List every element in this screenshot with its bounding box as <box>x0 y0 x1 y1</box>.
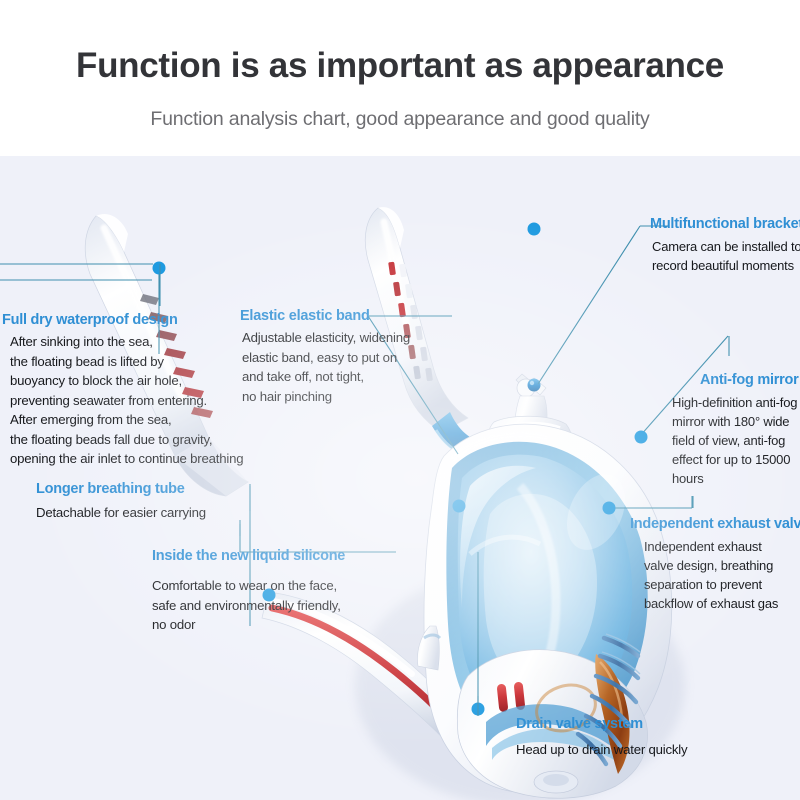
callout-elastic-elastic-band: Elastic elastic band Adjustable elastici… <box>240 308 410 406</box>
callout-longer-breathing-tube: Longer breathing tube Detachable for eas… <box>36 481 206 523</box>
infographic-panel: Full dry waterproof design After sinking… <box>0 156 800 800</box>
callout-title: Full dry waterproof design <box>2 312 243 328</box>
callout-anti-fog-mirror: Anti-fog mirror High-definition anti-fog… <box>672 372 799 488</box>
callout-title: Inside the new liquid silicone <box>152 548 345 564</box>
callout-title: Anti-fog mirror <box>672 372 799 388</box>
callout-body: After sinking into the sea, the floating… <box>2 332 243 469</box>
callout-body: Camera can be installed to record beauti… <box>650 237 800 275</box>
callout-title: Elastic elastic band <box>240 308 410 324</box>
callout-title: Drain valve system <box>516 716 687 732</box>
callout-title: Multifunctional bracket <box>650 216 800 232</box>
callout-independent-exhaust-valve: Independent exhaust valve Independent ex… <box>630 516 800 613</box>
callout-body: Independent exhaust valve design, breath… <box>630 537 800 613</box>
callout-body: High-definition anti-fog mirror with 180… <box>672 393 799 488</box>
callout-body: Comfortable to wear on the face, safe an… <box>152 576 345 635</box>
callout-inside-the-new-liquid-silicone: Inside the new liquid silicone Comfortab… <box>152 548 345 635</box>
callout-body: Head up to drain water quickly <box>516 740 687 760</box>
header-banner: Function is as important as appearance F… <box>0 0 800 156</box>
page-title: Function is as important as appearance <box>0 46 800 86</box>
callout-title: Longer breathing tube <box>36 481 206 497</box>
callout-multifunctional-bracket: Multifunctional bracket Camera can be in… <box>650 216 800 275</box>
callout-body: Detachable for easier carrying <box>36 503 206 523</box>
callout-body: Adjustable elasticity, widening elastic … <box>240 328 410 406</box>
callout-full-dry-waterproof-design: Full dry waterproof design After sinking… <box>2 312 243 469</box>
callout-drain-valve-system: Drain valve system Head up to drain wate… <box>516 716 687 760</box>
page-subtitle: Function analysis chart, good appearance… <box>0 108 800 131</box>
callout-title: Independent exhaust valve <box>630 516 800 532</box>
